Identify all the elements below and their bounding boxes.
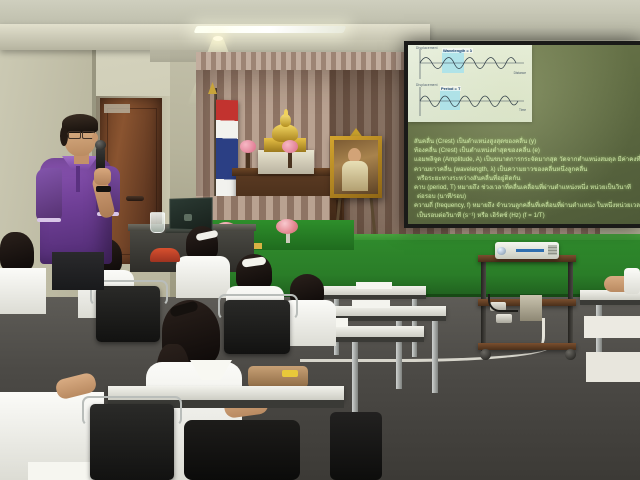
slide-line: ต่อรอบ (นาที/รอบ)	[414, 192, 638, 201]
ceiling-downlight-icon	[213, 36, 223, 41]
wristwatch-icon	[96, 186, 111, 192]
flower-vase	[288, 152, 292, 168]
desk-edge	[314, 295, 426, 299]
teacher-hair-side	[60, 126, 68, 146]
projection-screen: Displacement Distance Wavelength = λ Dis…	[408, 45, 640, 224]
polo-placket	[76, 166, 80, 192]
cart-shelf-bottom	[478, 343, 576, 350]
chair-rail	[218, 294, 298, 320]
slide-line: ท้องคลื่น (Crest) เป็นตำแหน่งต่ำสุดของคล…	[414, 146, 638, 155]
laptop-lid-logo	[184, 214, 192, 221]
pink-flowers-icon	[282, 140, 298, 153]
backpack	[330, 412, 382, 480]
wave-diagram-card: Displacement Distance Wavelength = λ Dis…	[408, 45, 532, 122]
pink-flowers-icon	[240, 140, 256, 153]
period-plot: Displacement Time Period = T	[412, 84, 528, 119]
projector-accent-strip	[516, 249, 544, 252]
student-sleeve	[624, 268, 640, 294]
eyeglasses-icon	[68, 131, 81, 139]
pencil-case	[248, 366, 308, 388]
power-adapter	[496, 314, 512, 323]
buddha-flame-finial	[284, 109, 288, 116]
shrine-pedestal	[258, 150, 314, 174]
paper-sheet	[356, 282, 392, 289]
water-glass-icon	[150, 212, 165, 233]
flower-vase	[246, 152, 250, 168]
period-label: Period = T	[440, 86, 461, 91]
door-sign	[104, 104, 130, 113]
cart-caster-wheel	[565, 349, 576, 360]
teacher-sleeve-left	[36, 168, 62, 222]
desk-edge	[580, 300, 640, 305]
wavelength-plot: Displacement Distance Wavelength = λ	[412, 47, 528, 82]
slide-line: สันคลื่น (Crest) เป็นตำแหน่งสูงสุดของคลื…	[414, 137, 638, 146]
desk-lower-shelf	[584, 316, 640, 338]
sleeve-trim	[37, 218, 61, 222]
portrait-robe	[342, 161, 368, 191]
desk-leg	[352, 342, 358, 422]
slide-text-block: สันคลื่น (Crest) เป็นตำแหน่งสูงสุดของคลื…	[414, 137, 638, 220]
slide-line: แอมพลิจูด (Amplitude, A) เป็นขนาดการกระจ…	[414, 155, 638, 164]
slide-line: เป็นรอบต่อวินาที (s⁻¹) หรือ เฮิร์ตซ์ (Hz…	[414, 211, 638, 220]
amplifier-box	[520, 295, 542, 321]
projector-lens	[497, 247, 506, 255]
plot-ylabel: Displacement	[416, 83, 438, 87]
teacher-hand	[94, 168, 111, 185]
fluorescent-light-icon	[194, 26, 347, 33]
teacher-trousers	[52, 252, 104, 290]
plot-xlabel: Time	[519, 108, 526, 112]
classroom-photo: Displacement Distance Wavelength = λ Dis…	[0, 0, 640, 480]
desk-leg	[432, 321, 438, 393]
student-shirt	[176, 256, 230, 298]
plot-xlabel: Distance	[514, 71, 526, 75]
door-handle-icon[interactable]	[126, 196, 144, 201]
plot-ylabel: Displacement	[416, 46, 438, 50]
red-cap-icon	[150, 248, 180, 262]
slide-line: ความถี่ (frequency, f) หมายถึง จำนวนลูกค…	[414, 201, 638, 210]
projector-vent	[548, 245, 557, 255]
pink-flowers-icon	[276, 219, 298, 234]
backpack	[184, 420, 300, 480]
wavelength-label: Wavelength = λ	[442, 48, 473, 53]
paper-sheet	[352, 300, 390, 308]
stationery-item	[282, 370, 298, 377]
cart-caster-wheel	[480, 349, 491, 360]
coiled-cable	[488, 294, 518, 312]
microphone-head	[95, 140, 106, 150]
slide-line: หรือระยะทางระหว่างสันคลื่นที่อยู่ติดกัน	[414, 174, 638, 183]
slide-line: ความยาวคลื่น (wavelength, λ) เป็นความยาว…	[414, 165, 638, 174]
student-shirt	[0, 268, 46, 314]
student-head	[0, 232, 34, 272]
desk-lower-shelf	[586, 352, 640, 382]
chair-rail	[82, 396, 182, 426]
slide-line: คาบ (period, T) หมายถึง ช่วงเวลาที่คลื่น…	[414, 183, 638, 192]
